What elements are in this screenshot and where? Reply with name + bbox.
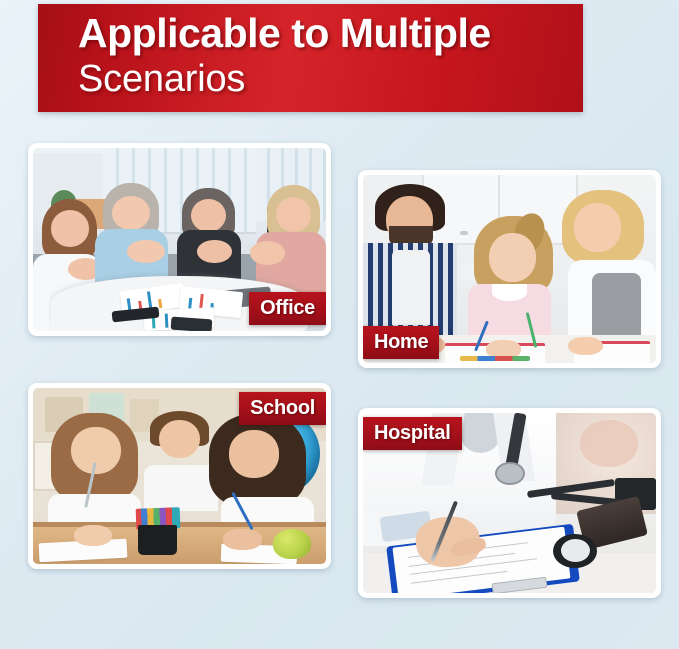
page-title-line-2: Scenarios	[78, 57, 583, 101]
badge-home: Home	[363, 326, 439, 359]
badge-office: Office	[249, 292, 326, 325]
badge-hospital: Hospital	[363, 417, 462, 450]
hospital-photo: Hospital	[363, 413, 656, 593]
scenario-panel-office[interactable]: Office	[28, 143, 331, 336]
school-photo: School	[33, 388, 326, 564]
page-title-line-1: Applicable to Multiple	[78, 10, 583, 57]
header-banner: Applicable to Multiple Scenarios	[38, 4, 583, 112]
scenario-panel-home[interactable]: Home	[358, 170, 661, 368]
office-photo: Office	[33, 148, 326, 331]
scenario-panel-hospital[interactable]: Hospital	[358, 408, 661, 598]
badge-school: School	[239, 392, 326, 425]
scenario-panel-school[interactable]: School	[28, 383, 331, 569]
home-photo: Home	[363, 175, 656, 363]
